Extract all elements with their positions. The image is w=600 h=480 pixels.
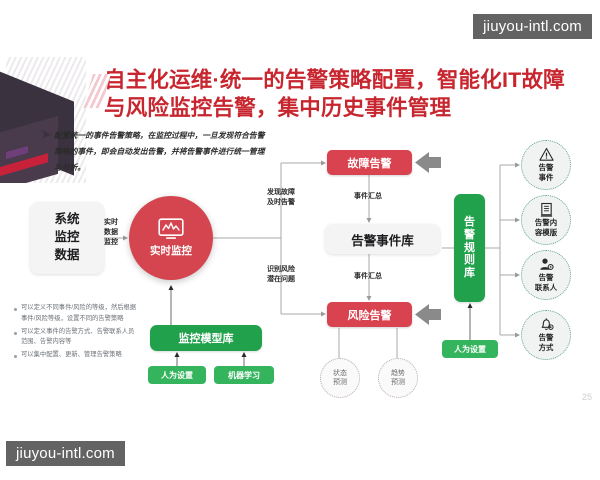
status-prediction-label-2: 预测 — [333, 378, 347, 387]
rule-char-1: 告 — [464, 216, 475, 229]
rule-char-5: 库 — [464, 267, 475, 280]
alert-contact-label-2: 联系人 — [535, 284, 557, 293]
sys-data-line-2: 监控 — [54, 229, 79, 247]
lbl-risk-2: 潜在问题 — [255, 275, 307, 285]
bullet-dot-icon — [14, 332, 17, 335]
rule-human-setting-label: 人为设置 — [454, 344, 486, 355]
sys-data-line-3: 数据 — [54, 247, 79, 265]
risk-alert-label: 风险告警 — [348, 307, 392, 323]
bell-gear-icon — [539, 317, 554, 332]
prediction-status[interactable]: 状态 预测 — [320, 358, 360, 398]
alert-method-label-1: 告警 — [539, 334, 554, 343]
rule-char-2: 警 — [464, 229, 475, 242]
realtime-monitoring-label: 实时监控 — [150, 243, 192, 258]
lbl-rt-2: 数据 — [96, 228, 126, 238]
prediction-trend[interactable]: 趋势 预测 — [378, 358, 418, 398]
lbl-rt-1: 实时 — [96, 218, 126, 228]
event-summary-label-2: 事件汇总 — [342, 272, 394, 282]
sys-data-line-1: 系统 — [54, 211, 79, 229]
slide-canvas: 自主化运维·统一的告警策略配置，智能化IT故障与风险监控告警，集中历史事件管理 … — [0, 0, 600, 480]
model-input-machine-learning[interactable]: 机器学习 — [214, 366, 274, 384]
alert-rule-library-card[interactable]: 告 警 规 则 库 — [454, 194, 485, 302]
bullet-list: 可以定义不同事件/风险的等级，然后根据事件/风险等级，设置不同的告警策略 可以定… — [14, 303, 140, 363]
rule-item-alert-event[interactable]: 告警 事件 — [521, 140, 571, 190]
trend-prediction-label-1: 趋势 — [391, 369, 405, 378]
event-library-label: 告警事件库 — [351, 230, 414, 249]
rule-item-alert-template[interactable]: 告警内 容模版 — [521, 195, 571, 245]
model-library-label: 监控模型库 — [179, 330, 234, 346]
realtime-data-monitoring-label: 实时 数据 监控 — [96, 218, 126, 248]
page-title: 自主化运维·统一的告警策略配置，智能化IT故障与风险监控告警，集中历史事件管理 — [104, 66, 574, 123]
lbl-fault-1: 发现故障 — [255, 188, 307, 198]
risk-detection-label: 识别风险 潜在问题 — [255, 265, 307, 285]
status-prediction-label-1: 状态 — [333, 369, 347, 378]
event-summary-label-1: 事件汇总 — [342, 192, 394, 202]
human-setting-label: 人为设置 — [161, 370, 193, 381]
list-item: 可以定义不同事件/风险的等级，然后根据事件/风险等级，设置不同的告警策略 — [14, 303, 140, 325]
list-item: 可以集中配置、更新、管理告警策略 — [14, 350, 140, 361]
fault-alert-card[interactable]: 故障告警 — [327, 150, 412, 175]
monitoring-model-library-card[interactable]: 监控模型库 — [150, 325, 262, 351]
lbl-risk-1: 识别风险 — [255, 265, 307, 275]
alert-event-label-2: 事件 — [539, 174, 554, 183]
fault-alert-label: 故障告警 — [348, 155, 392, 171]
bullet-text: 可以集中配置、更新、管理告警策略 — [21, 350, 122, 361]
bullet-dot-icon — [14, 355, 17, 358]
alert-event-library-card[interactable]: 告警事件库 — [325, 224, 440, 254]
rule-char-3: 规 — [464, 242, 475, 255]
lbl-rt-3: 监控 — [96, 238, 126, 248]
document-icon — [539, 202, 554, 217]
alert-template-label-2: 容模版 — [535, 229, 557, 238]
rule-input-human-setting[interactable]: 人为设置 — [442, 340, 498, 358]
person-gear-icon — [539, 257, 554, 272]
monitor-chart-icon — [158, 218, 184, 240]
bullet-dot-icon — [14, 308, 17, 311]
warning-triangle-icon — [539, 147, 554, 162]
system-monitoring-data-card[interactable]: 系统 监控 数据 — [30, 202, 104, 274]
realtime-monitoring-node[interactable]: 实时监控 — [129, 196, 213, 280]
alert-contact-label-1: 告警 — [539, 274, 554, 283]
intro-paragraph: 配置统一的事件告警策略，在监控过程中，一旦发现符合告警策略的事件，即会自动发出告… — [54, 128, 266, 176]
rule-item-alert-contact[interactable]: 告警 联系人 — [521, 250, 571, 300]
alert-event-label-1: 告警 — [539, 164, 554, 173]
title-block: 自主化运维·统一的告警策略配置，智能化IT故障与风险监控告警，集中历史事件管理 — [104, 66, 574, 123]
model-input-human-setting[interactable]: 人为设置 — [148, 366, 206, 384]
rule-char-4: 则 — [464, 254, 475, 267]
fault-detection-label: 发现故障 及时告警 — [255, 188, 307, 208]
watermark-top: jiuyou-intl.com — [473, 14, 592, 39]
watermark-bottom: jiuyou-intl.com — [6, 441, 125, 466]
lbl-fault-2: 及时告警 — [255, 198, 307, 208]
page-number: 25 — [582, 392, 592, 402]
machine-learning-label: 机器学习 — [228, 370, 260, 381]
trend-prediction-label-2: 预测 — [391, 378, 405, 387]
rule-item-alert-method[interactable]: 告警 方式 — [521, 310, 571, 360]
alert-method-label-2: 方式 — [539, 344, 554, 353]
bullet-text: 可以定义事件的告警方式、告警联系人员范围、告警内容等 — [21, 327, 140, 349]
alert-template-label-1: 告警内 — [535, 219, 557, 228]
bullet-text: 可以定义不同事件/风险的等级，然后根据事件/风险等级，设置不同的告警策略 — [21, 303, 140, 325]
risk-alert-card[interactable]: 风险告警 — [327, 302, 412, 327]
list-item: 可以定义事件的告警方式、告警联系人员范围、告警内容等 — [14, 327, 140, 349]
